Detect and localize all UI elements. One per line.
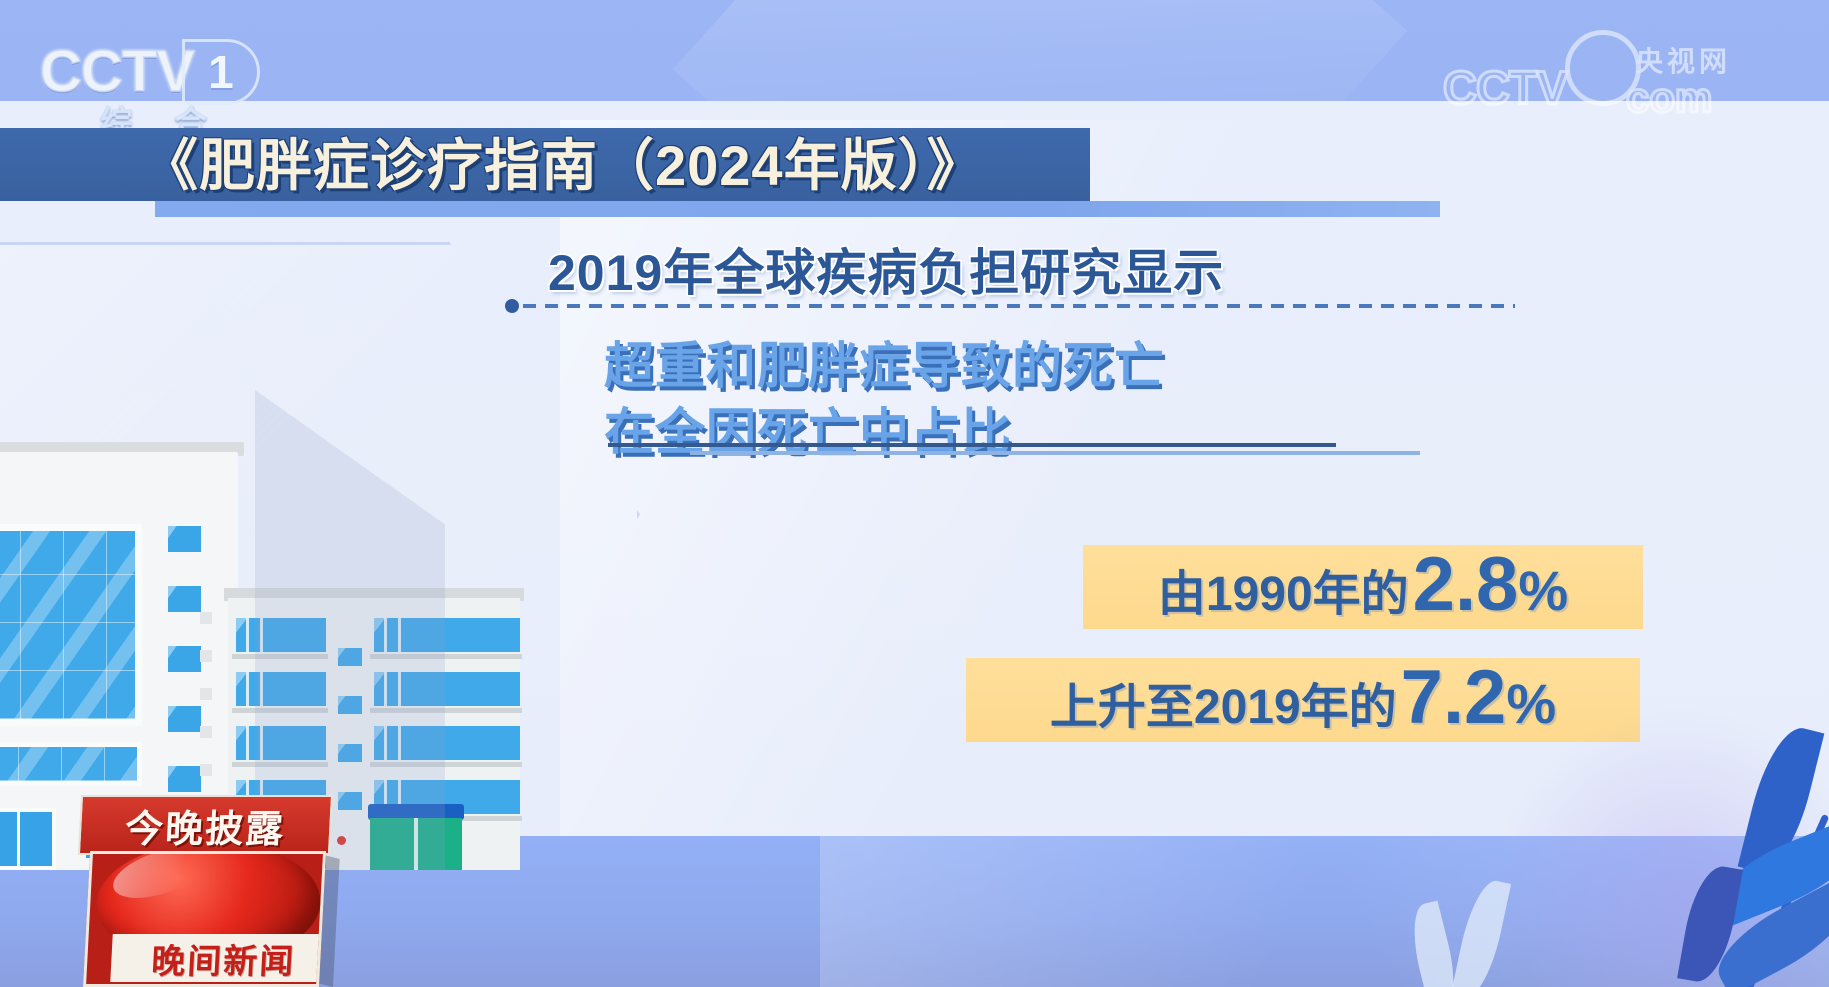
building-facade-notch — [200, 650, 212, 662]
stat-1990-prefix: 由1990年的 — [1158, 554, 1409, 624]
page-title: 《肥胖症诊疗指南（2024年版）》 — [142, 133, 1082, 199]
building-facade-notch — [200, 612, 212, 624]
stat-1990-content: 由1990年的 2.8 % — [1158, 551, 1568, 624]
program-badge-body: 晚间新闻 — [83, 851, 326, 987]
divider-dashes — [523, 304, 1515, 308]
building-facade-notch — [200, 764, 212, 776]
building-facade-notch — [200, 688, 212, 700]
building-side-window — [168, 646, 201, 672]
stat-2019-value: 7.2 — [1401, 664, 1507, 732]
program-name-bar: 晚间新闻 — [110, 934, 326, 982]
statement-underline-light — [690, 451, 1420, 455]
watermark-com-text: com — [1626, 74, 1712, 122]
building-side-window — [168, 766, 201, 792]
building-side-window — [168, 586, 201, 612]
cctv-com-watermark: CCTV 央视网 com — [1443, 28, 1793, 124]
building-side-window — [168, 526, 201, 552]
stat-1990-unit: % — [1518, 558, 1568, 623]
watermark-cctv-text: CCTV — [1443, 60, 1567, 115]
building-facade-notch — [200, 726, 212, 738]
glass-mullion-grid — [0, 531, 135, 719]
broadcast-frame: CCTV 1 综 合 CCTV 央视网 com 《肥胖症诊疗指南（2024年版）… — [0, 0, 1829, 987]
program-name-text: 晚间新闻 — [150, 934, 297, 983]
dashed-divider — [505, 300, 1515, 312]
window-strip-grid — [0, 747, 137, 781]
program-tagline-text: 今晚披露 — [124, 798, 287, 853]
building-glass-curtain-wall — [0, 524, 142, 726]
stat-1990-value: 2.8 — [1413, 551, 1519, 619]
stat-2019-unit: % — [1506, 671, 1556, 736]
cctv-channel-logo: CCTV 1 — [40, 38, 260, 105]
cctv-channel-number: 1 — [182, 39, 260, 105]
cctv-wordmark: CCTV — [40, 38, 194, 105]
statement-line-1: 超重和肥胖症导致的死亡 — [604, 326, 1165, 398]
building-window-strip — [0, 742, 142, 786]
background-band-bottom-highlight — [820, 836, 1829, 987]
divider-dot-icon — [505, 299, 519, 313]
building-side-window — [168, 706, 201, 732]
stat-2019-content: 上升至2019年的 7.2 % — [1050, 664, 1556, 737]
stat-box-1990: 由1990年的 2.8 % — [1083, 545, 1643, 629]
program-badge: 今晚披露 晚间新闻 — [65, 795, 343, 987]
title-banner-accent-bar — [155, 201, 1440, 217]
building-main-door — [0, 808, 56, 870]
program-tagline-bar: 今晚披露 — [78, 795, 333, 855]
statement-underline-dark — [608, 443, 1336, 447]
stat-box-2019: 上升至2019年的 7.2 % — [966, 658, 1640, 742]
headline-text: 2019年全球疾病负担研究显示 — [548, 233, 1224, 305]
stat-2019-prefix: 上升至2019年的 — [1050, 667, 1397, 737]
